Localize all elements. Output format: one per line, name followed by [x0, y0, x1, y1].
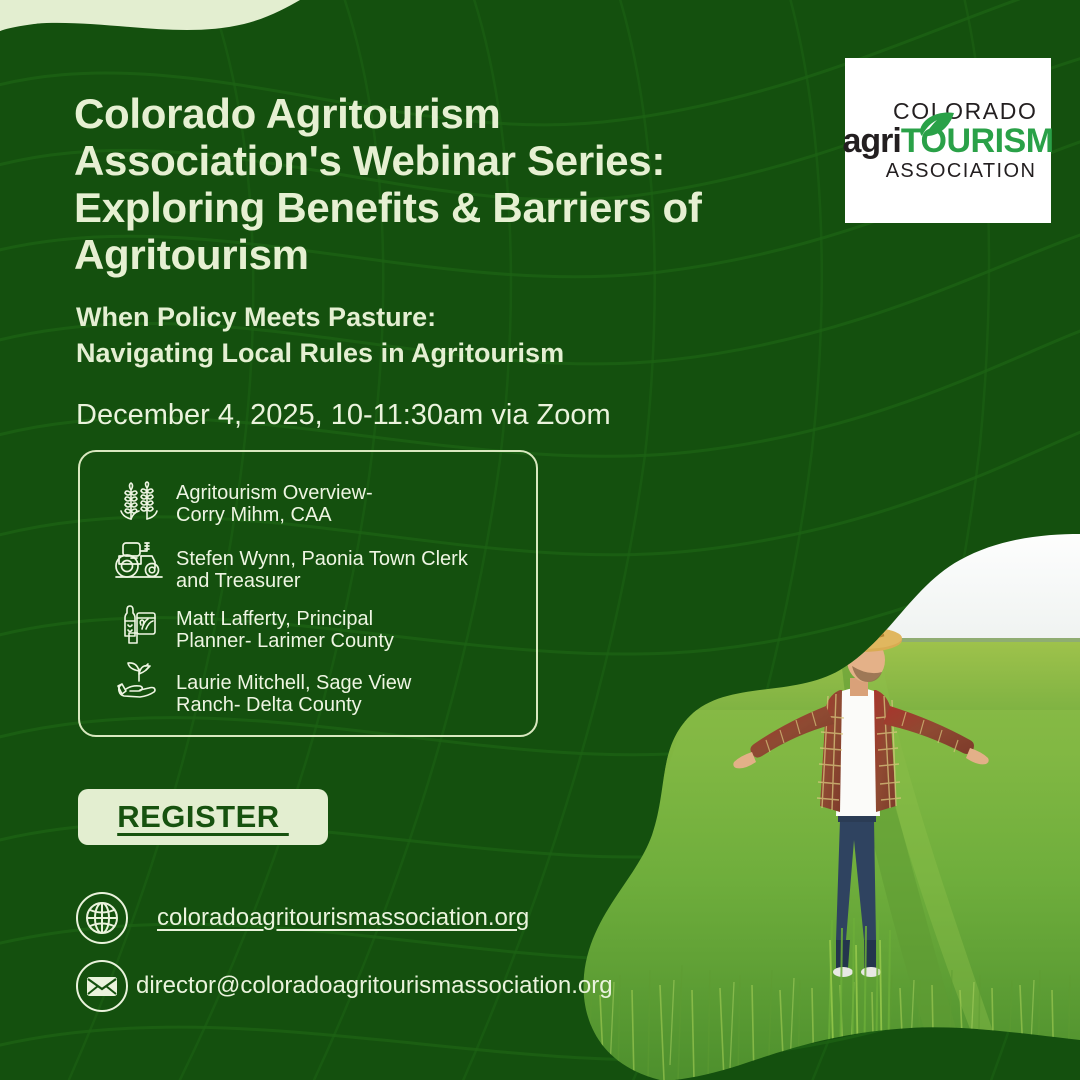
farmer-in-wheat-field-photo [540, 520, 1080, 1080]
logo-association-text: ASSOCIATION [859, 161, 1037, 181]
list-item: Stefen Wynn, Paonia Town Clerk and Treas… [80, 536, 536, 593]
list-item: Matt Lafferty, Principal Planner- Larime… [80, 600, 536, 653]
register-button-label: REGISTER [117, 799, 289, 835]
speaker-line-3a: Matt Lafferty, Principal [176, 608, 373, 630]
speaker-line-4b: Ranch- Delta County [176, 694, 362, 716]
speaker-name-4: Laurie Mitchell, Sage View Ranch- Delta … [170, 660, 411, 717]
globe-icon [74, 890, 130, 946]
speaker-line-2a: Stefen Wynn, Paonia Town Clerk [176, 548, 468, 570]
webinar-poster: COLORADO agri TOURISM ASSOCIATION Colora… [0, 0, 1080, 1080]
speaker-line-4a: Laurie Mitchell, Sage View [176, 672, 411, 694]
farm-products-icon [108, 600, 170, 647]
session-subtitle-line-1: When Policy Meets Pasture: [76, 300, 716, 336]
register-button[interactable]: REGISTER [78, 789, 328, 845]
tractor-icon [108, 536, 170, 581]
speaker-list: Agritourism Overview- Corry Mihm, CAA [78, 450, 538, 737]
speaker-line-2b: and Treasurer [176, 570, 301, 592]
website-link[interactable]: coloradoagritourismassociation.org [157, 904, 529, 932]
speaker-line-1a: Agritourism Overview- [176, 482, 373, 504]
page-title: Colorado Agritourism Association's Webin… [74, 90, 774, 278]
email-link[interactable]: director@coloradoagritourismassociation.… [136, 972, 613, 1000]
list-item: Agritourism Overview- Corry Mihm, CAA [80, 480, 536, 529]
top-left-wave-decoration [0, 0, 340, 46]
session-datetime: December 4, 2025, 10-11:30am via Zoom [76, 398, 756, 433]
leaf-icon [916, 111, 956, 137]
session-subtitle: When Policy Meets Pasture: Navigating Lo… [76, 300, 716, 371]
session-subtitle-line-2: Navigating Local Rules in Agritourism [76, 336, 716, 372]
list-item: Laurie Mitchell, Sage View Ranch- Delta … [80, 660, 536, 717]
envelope-icon [74, 958, 130, 1014]
speaker-name-1: Agritourism Overview- Corry Mihm, CAA [170, 480, 373, 527]
organization-logo: COLORADO agri TOURISM ASSOCIATION [845, 58, 1051, 223]
website-link-row[interactable]: coloradoagritourismassociation.org [74, 890, 529, 946]
wheat-icon [108, 480, 170, 529]
speaker-name-3: Matt Lafferty, Principal Planner- Larime… [170, 600, 394, 653]
logo-agri-text: agri [843, 124, 901, 158]
speaker-line-1b: Corry Mihm, CAA [176, 504, 332, 526]
speaker-name-2: Stefen Wynn, Paonia Town Clerk and Treas… [170, 536, 468, 593]
speaker-line-3b: Planner- Larimer County [176, 630, 394, 652]
email-link-row[interactable]: director@coloradoagritourismassociation.… [74, 958, 613, 1014]
hand-plant-icon [108, 660, 170, 705]
